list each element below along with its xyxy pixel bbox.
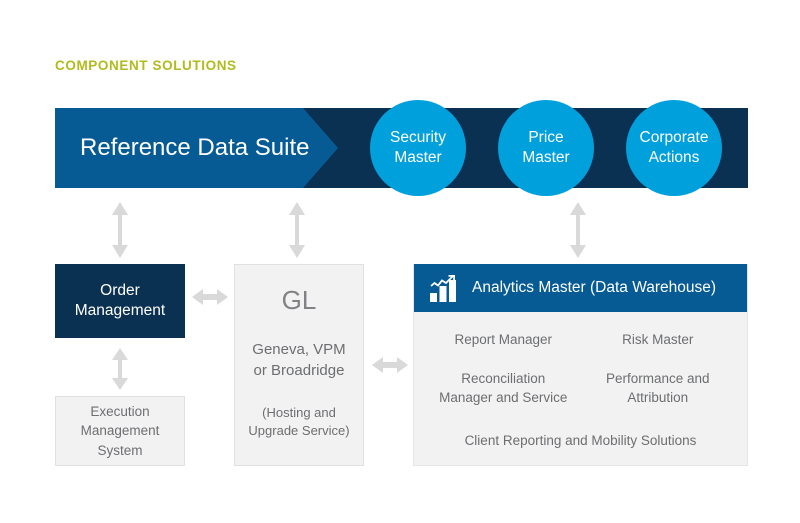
- box-execution-management-system[interactable]: Execution Management System: [55, 396, 185, 466]
- page-title: COMPONENT SOLUTIONS: [55, 58, 237, 73]
- box-ems-line3: System: [81, 441, 160, 460]
- connector-analytics-to-banner: [566, 202, 590, 258]
- panel-item-reconciliation-manager-and-service[interactable]: Reconciliation Manager and Service: [426, 369, 581, 407]
- box-gl-subtitle-line2: or Broadridge: [235, 360, 363, 381]
- circle-security-master-line1: Security: [390, 128, 446, 148]
- circle-corporate-actions-line2: Actions: [649, 148, 700, 168]
- panel-item-client-reporting-and-mobility-solutions[interactable]: Client Reporting and Mobility Solutions: [426, 431, 735, 450]
- panel-analytics-master-header[interactable]: Analytics Master (Data Warehouse): [414, 264, 747, 312]
- box-gl[interactable]: GL Geneva, VPM or Broadridge (Hosting an…: [234, 264, 364, 466]
- box-order-management[interactable]: Order Management: [55, 264, 185, 338]
- box-ems-line1: Execution: [81, 402, 160, 421]
- circle-price-master-line2: Master: [522, 148, 569, 168]
- panel-item-risk-master-label: Risk Master: [622, 332, 693, 347]
- panel-item-performance-line1: Performance and: [581, 369, 736, 388]
- banner-title: Reference Data Suite: [80, 108, 309, 188]
- panel-column-right: Risk Master Performance and Attribution: [581, 330, 736, 427]
- panel-column-left: Report Manager Reconciliation Manager an…: [426, 330, 581, 427]
- box-gl-note: (Hosting and Upgrade Service): [235, 404, 363, 441]
- panel-item-reconciliation-line1: Reconciliation: [426, 369, 581, 388]
- circle-security-master[interactable]: Security Master: [370, 100, 466, 196]
- panel-item-performance-and-attribution[interactable]: Performance and Attribution: [581, 369, 736, 407]
- box-order-management-line2: Management: [75, 301, 165, 321]
- component-solutions-diagram: COMPONENT SOLUTIONS Reference Data Suite…: [0, 0, 800, 523]
- panel-analytics-master-title: Analytics Master (Data Warehouse): [472, 279, 716, 297]
- circle-price-master-line1: Price: [528, 128, 563, 148]
- panel-analytics-master: Analytics Master (Data Warehouse) Report…: [413, 264, 748, 466]
- box-gl-subtitle-line1: Geneva, VPM: [235, 339, 363, 360]
- panel-item-report-manager-label: Report Manager: [454, 332, 552, 347]
- box-gl-title: GL: [235, 287, 363, 313]
- circle-corporate-actions[interactable]: Corporate Actions: [626, 100, 722, 196]
- box-order-management-line1: Order: [75, 281, 165, 301]
- panel-item-report-manager[interactable]: Report Manager: [426, 330, 581, 349]
- connector-order-management-to-banner: [108, 202, 132, 258]
- circle-price-master[interactable]: Price Master: [498, 100, 594, 196]
- box-gl-subtitle: Geneva, VPM or Broadridge: [235, 339, 363, 382]
- panel-item-performance-line2: Attribution: [581, 388, 736, 407]
- connector-order-management-to-execution-management: [108, 348, 132, 390]
- connector-gl-to-banner: [285, 202, 309, 258]
- box-ems-line2: Management: [81, 421, 160, 440]
- connector-gl-to-analytics: [372, 354, 408, 376]
- box-gl-note-line1: (Hosting and: [235, 404, 363, 422]
- circle-corporate-actions-line1: Corporate: [640, 128, 709, 148]
- circle-security-master-line2: Master: [394, 148, 441, 168]
- connector-order-management-to-gl: [192, 286, 228, 308]
- panel-analytics-master-columns: Report Manager Reconciliation Manager an…: [426, 330, 735, 427]
- bar-chart-trend-icon: [430, 274, 460, 302]
- panel-item-risk-master[interactable]: Risk Master: [581, 330, 736, 349]
- panel-analytics-master-body: Report Manager Reconciliation Manager an…: [414, 312, 747, 451]
- box-gl-note-line2: Upgrade Service): [235, 422, 363, 440]
- panel-item-reconciliation-line2: Manager and Service: [426, 388, 581, 407]
